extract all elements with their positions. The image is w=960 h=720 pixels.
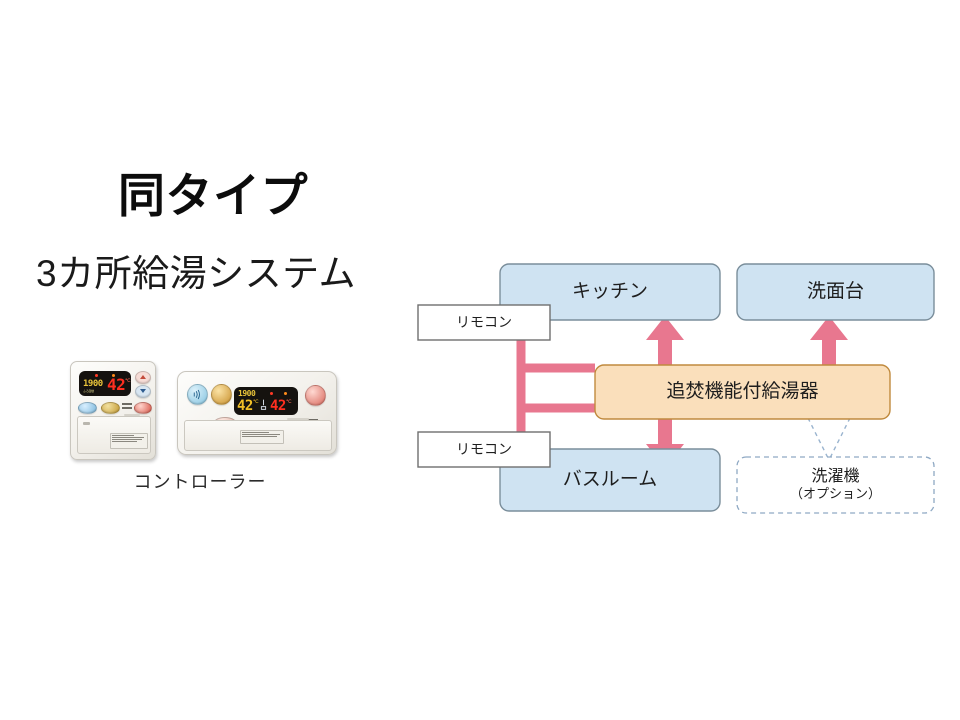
slide-canvas: 同タイプ 3カ所給湯システム 1900 ふろ自動 42 ℃ — [0, 0, 960, 720]
controller-cover-panel[interactable] — [77, 416, 151, 454]
call-button[interactable] — [134, 402, 152, 414]
node-remote-bottom[interactable] — [418, 432, 550, 467]
system-diagram: キッチン 洗面台 バスルーム 追焚機能付給湯器 洗濯機 （オプション） リモコン… — [410, 248, 950, 533]
lcd-time-value: 1900 — [238, 390, 255, 398]
call-sound-button[interactable] — [187, 384, 208, 405]
page-subtitle: 3カ所給湯システム — [36, 255, 356, 292]
warning-label — [110, 433, 148, 449]
cover-latch — [83, 422, 90, 425]
page-title: 同タイプ — [118, 172, 308, 219]
operation-button[interactable] — [211, 384, 232, 405]
lcd-indicator-dot — [284, 392, 287, 395]
cover-seam — [287, 418, 309, 420]
auto-bath-button[interactable] — [101, 402, 120, 414]
lcd-temp-left-unit: ℃ — [253, 400, 259, 405]
warning-label — [240, 430, 284, 444]
chevron-up-icon — [140, 375, 146, 379]
lcd-micro-text: ふろ自動 — [83, 390, 94, 393]
lcd-screen-left: 1900 ふろ自動 42 ℃ — [79, 371, 131, 396]
operation-button[interactable] — [78, 402, 97, 414]
dashed-connector-heater-to-washer — [808, 418, 850, 460]
lcd-time-value: 1900 — [83, 380, 103, 389]
faucet-icon — [260, 397, 267, 412]
controller-caption: コントローラー — [60, 468, 340, 494]
arrow-heater-to-washbasin — [810, 316, 848, 368]
down-button[interactable] — [135, 385, 151, 398]
node-washer[interactable] — [737, 457, 934, 513]
controller-device-bathroom: 1900 ふろ自動 42 ℃ — [70, 361, 156, 460]
chevron-down-icon — [140, 389, 146, 393]
lcd-temp-right-unit: ℃ — [286, 400, 292, 405]
speaker-grille-icon — [122, 403, 132, 411]
lcd-temp-unit: ℃ — [125, 379, 131, 384]
controller-device-kitchen: 1900 42 ℃ 42 ℃ — [177, 371, 337, 455]
cover-seam — [124, 414, 140, 416]
node-washbasin[interactable] — [737, 264, 934, 320]
lcd-temp-value: 42 — [107, 377, 125, 393]
pipe-connectors — [521, 328, 595, 448]
auto-bath-button[interactable] — [305, 385, 326, 406]
sound-wave-icon — [191, 388, 204, 401]
up-button[interactable] — [135, 371, 151, 384]
lcd-temp-right-value: 42 — [270, 399, 286, 413]
node-heater[interactable] — [595, 365, 890, 419]
node-remote-top[interactable] — [418, 305, 550, 340]
controller-cover-panel[interactable] — [184, 420, 332, 451]
lcd-screen-right: 1900 42 ℃ 42 ℃ — [234, 387, 298, 415]
lcd-temp-left-value: 42 — [237, 399, 253, 413]
lcd-indicator-dot — [270, 392, 273, 395]
arrow-heater-to-kitchen — [646, 316, 684, 368]
lcd-indicator-dot — [95, 374, 98, 377]
